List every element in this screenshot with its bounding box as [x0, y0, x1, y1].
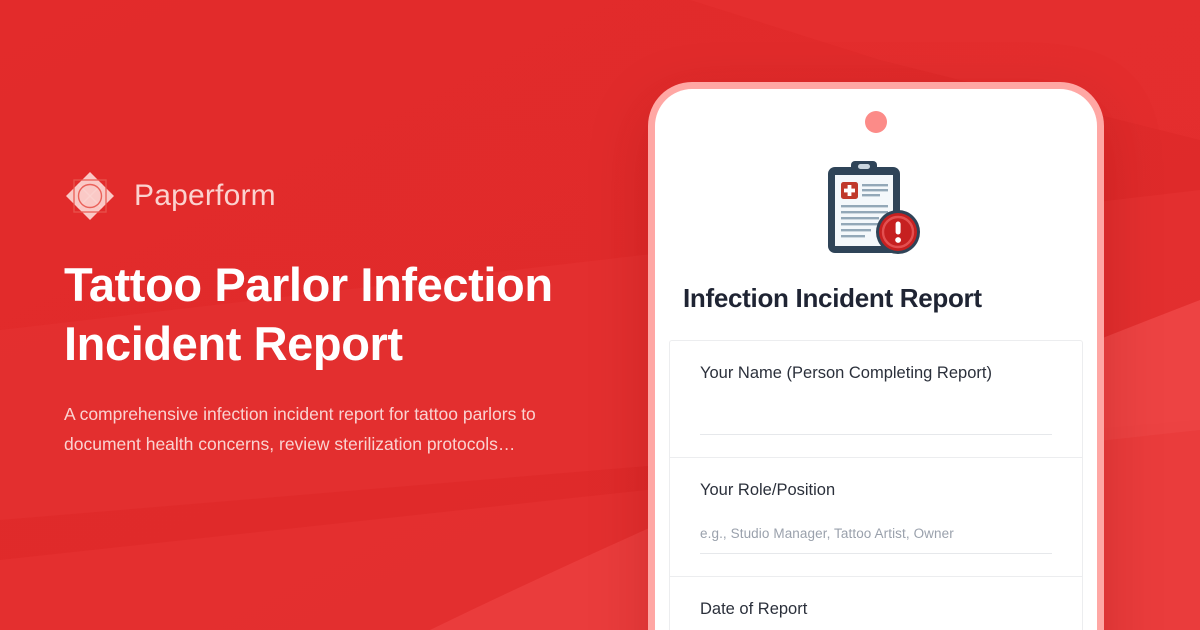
phone-mockup: Infection Incident Report Your Name (Per… — [648, 82, 1104, 630]
brand-name: Paperform — [134, 181, 276, 211]
paperform-flower-logo-icon — [64, 170, 116, 222]
brand-lockup: Paperform — [64, 170, 664, 222]
form-title: Infection Incident Report — [655, 261, 1097, 314]
camera-dot-icon — [865, 111, 887, 133]
field-label: Your Name (Person Completing Report) — [700, 363, 1052, 384]
medical-clipboard-alert-icon — [655, 153, 1097, 261]
form-field-your-name[interactable]: Your Name (Person Completing Report) — [670, 341, 1082, 435]
field-input-area[interactable] — [700, 384, 1052, 422]
page-description: A comprehensive infection incident repor… — [64, 399, 584, 460]
hero-left-column: Paperform Tattoo Parlor Infection Incide… — [64, 0, 664, 630]
field-spacer — [670, 554, 1082, 576]
field-label: Date of Report — [700, 599, 1052, 620]
field-spacer — [670, 435, 1082, 457]
field-input-area[interactable] — [700, 620, 1052, 630]
form-card: Your Name (Person Completing Report) You… — [669, 340, 1083, 630]
form-field-date-of-report[interactable]: Date of Report — [670, 577, 1082, 630]
field-label: Your Role/Position — [700, 480, 1052, 501]
page-title: Tattoo Parlor Infection Incident Report — [64, 256, 624, 373]
form-field-your-role[interactable]: Your Role/Position e.g., Studio Manager,… — [670, 458, 1082, 553]
field-placeholder: e.g., Studio Manager, Tattoo Artist, Own… — [700, 526, 1052, 541]
